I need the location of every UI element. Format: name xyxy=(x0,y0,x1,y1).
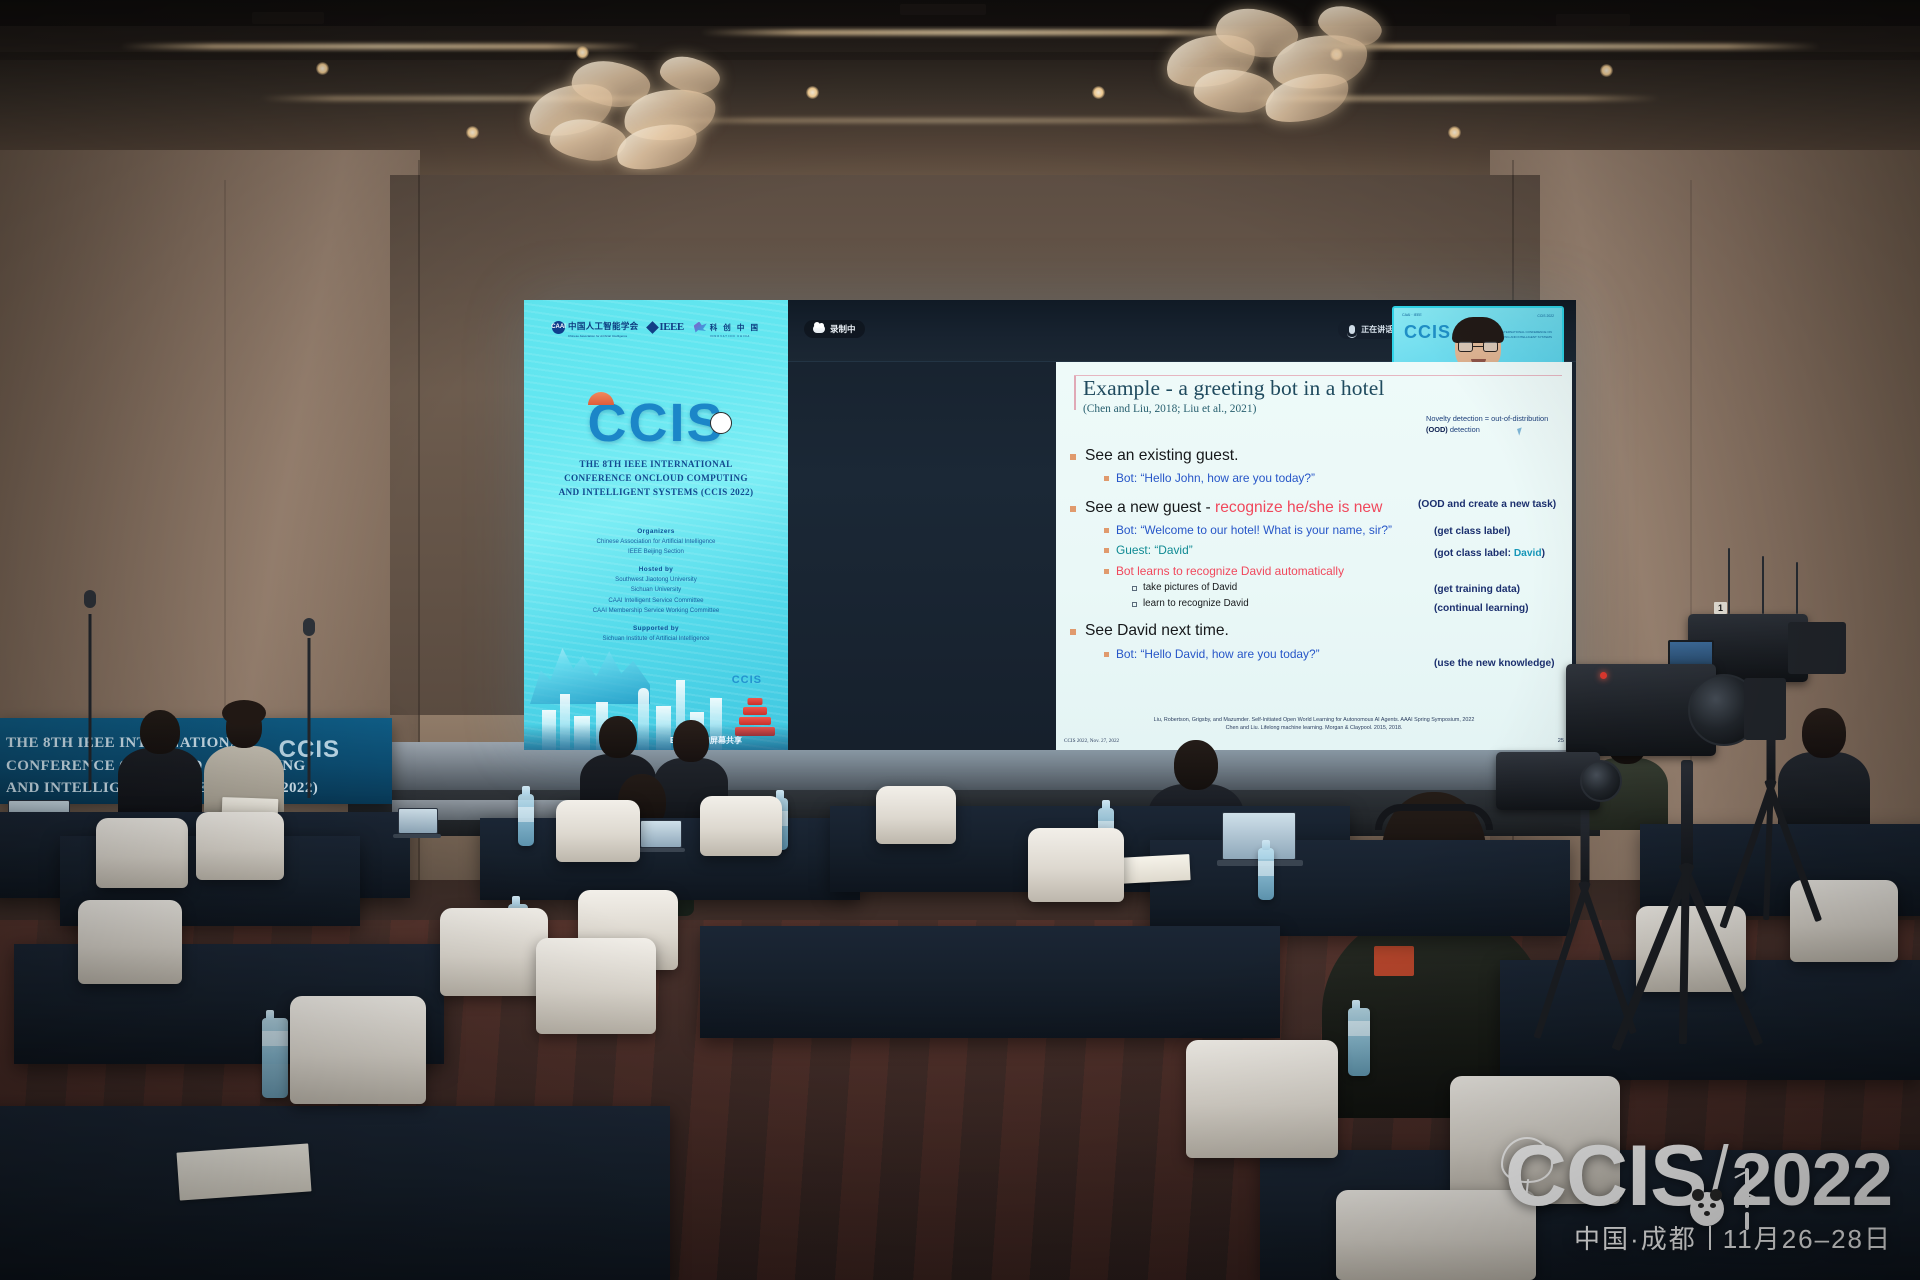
banner-title-line-3: AND INTELLIGENT SYSTEMS (CCIS 2022) xyxy=(536,486,776,500)
bullet-square-icon xyxy=(1104,652,1109,657)
chandelier-right xyxy=(1160,6,1400,132)
water-bottle xyxy=(1258,848,1274,900)
bullet-text: See a new guest - xyxy=(1085,499,1215,516)
conference-top-bar: 录制中 正在讲话: Bing Liu CAAI · IEEE CCIS 2022… xyxy=(788,300,1576,362)
caai-label-zh: 中国人工智能学会 xyxy=(568,321,638,331)
banner-title-line-2: CONFERENCE ONCLOUD COMPUTING xyxy=(536,472,776,486)
audience-chair xyxy=(876,786,956,844)
annotation-got-class-prefix: (got class label: xyxy=(1434,548,1514,559)
self-view-bg-text-right: CCIS 2022 xyxy=(1537,314,1554,318)
audience-chair xyxy=(536,938,656,1034)
paper-sheet xyxy=(176,1143,311,1200)
water-bottle xyxy=(262,1018,288,1098)
event-watermark: CCIS 2022 中国·成都 11月26–28日 xyxy=(1505,1141,1892,1256)
bullet-text: Bot: “Hello John, how are you today?” xyxy=(1116,471,1315,485)
bullet-square-icon xyxy=(1104,569,1109,574)
slide-side-note: Novelty detection = out-of-distribution … xyxy=(1426,414,1572,435)
slide-footer-left: CCIS 2022, Nov. 27, 2022 xyxy=(1064,738,1119,744)
bullet-square-icon xyxy=(1104,528,1109,533)
slide-page-number: 25 xyxy=(1558,738,1564,744)
audience-table xyxy=(700,926,1280,1038)
person-body xyxy=(118,748,202,818)
audience-table xyxy=(1150,840,1570,936)
bullet-text: Bot: “Hello David, how are you today?” xyxy=(1116,647,1320,661)
person-head xyxy=(673,720,709,762)
slide-note-line-1: Novelty detection = out-of-distribution xyxy=(1426,414,1572,425)
conference-room-photo: CAAI 中国人工智能学会 Chinese Association for Ar… xyxy=(0,0,1920,1280)
self-view-bg-text-left: CAAI · IEEE xyxy=(1402,313,1422,317)
ceiling-spotlight xyxy=(1600,64,1613,77)
banner-organizers: Organizers Chinese Association for Artif… xyxy=(534,526,778,644)
camera-lens-hood xyxy=(1788,622,1846,674)
caai-logo: CAAI 中国人工智能学会 Chinese Association for Ar… xyxy=(552,316,638,338)
slide-references: Liu, Robertson, Grigsby, and Mazumder. S… xyxy=(1056,716,1572,733)
watermark-subtitle: 中国·成都 11月26–28日 xyxy=(1505,1219,1892,1256)
banner-small-logo: CCIS xyxy=(732,674,762,686)
led-screen-wall: CAAI 中国人工智能学会 Chinese Association for Ar… xyxy=(524,300,1576,750)
person-head xyxy=(140,710,180,754)
bullet-square-icon xyxy=(1070,629,1076,635)
slide-title: Example - a greeting bot in a hotel xyxy=(1083,376,1384,401)
lanyard-badge xyxy=(1374,946,1414,976)
person-hair xyxy=(222,700,266,726)
annotation-use-new-knowledge: (use the new knowledge) xyxy=(1434,658,1555,669)
ieee-diamond-icon xyxy=(647,321,660,334)
paper-sheet xyxy=(1117,854,1190,884)
hosted-by-item: CAAI Intelligent Service Committee xyxy=(534,596,778,606)
recording-status-pill: 录制中 xyxy=(804,320,865,338)
bullet-text: See an existing guest. xyxy=(1085,447,1238,465)
recording-status-label: 录制中 xyxy=(830,323,856,335)
slide-note-line-2: detection xyxy=(1448,425,1480,434)
ceiling-spotlight xyxy=(1092,86,1105,99)
watermark-location: 中国·成都 xyxy=(1574,1219,1697,1256)
speaker-hair xyxy=(1452,317,1504,343)
banner-title-line-1: THE 8TH IEEE INTERNATIONAL xyxy=(536,458,776,472)
audience-chair xyxy=(1028,828,1124,902)
organizers-item: IEEE Beijing Section xyxy=(534,547,778,557)
bullet-hollow-square-icon xyxy=(1132,602,1137,607)
audience-chair xyxy=(290,996,426,1104)
bamboo-icon xyxy=(1740,1168,1756,1232)
bullet-level1: See an existing guest. xyxy=(1070,447,1568,465)
person-head xyxy=(599,716,637,758)
annotation-got-class-value: David xyxy=(1514,548,1542,559)
bullet-text: Guest: “David” xyxy=(1116,543,1193,557)
ginkgo-leaf-icon xyxy=(1501,1137,1553,1183)
hosted-by-item: Southwest Jiaotong University xyxy=(534,575,778,585)
supported-by-item: Sichuan Institute of Artificial Intellig… xyxy=(534,634,778,644)
bullet-text: See David next time. xyxy=(1085,622,1229,640)
bullet-text-row: See a new guest - recognize he/she is ne… xyxy=(1085,499,1382,517)
bullet-text: Bot: “Welcome to our hotel! What is your… xyxy=(1116,523,1392,537)
reference-line: Chen and Liu. Lifelong machine learning.… xyxy=(1056,724,1572,733)
audience-chair xyxy=(78,900,182,984)
chandelier-left xyxy=(520,54,740,174)
audience-chair xyxy=(96,818,188,888)
caai-mark-icon: CAAI xyxy=(552,321,565,334)
bullet-level1: See David next time. xyxy=(1070,622,1568,640)
microphone-icon xyxy=(1349,325,1355,334)
ceiling-spotlight xyxy=(316,62,329,75)
ceiling-spotlight xyxy=(806,86,819,99)
hosted-by-heading: Hosted by xyxy=(534,564,778,575)
bullet-square-icon xyxy=(1070,506,1076,512)
annotation-get-class-label: (get class label) xyxy=(1434,526,1510,537)
bullet-level2: Bot learns to recognize David automatica… xyxy=(1104,564,1568,578)
conference-banner-panel: CAAI 中国人工智能学会 Chinese Association for Ar… xyxy=(524,300,788,750)
microphone-stand xyxy=(78,590,102,790)
innovation-label-zh: 科 创 中 国 xyxy=(710,323,760,332)
annotation-get-training-data: (get training data) xyxy=(1434,584,1520,595)
innovation-label-en: INNOVATION CHINA xyxy=(710,335,760,338)
audience-chair xyxy=(196,812,284,880)
camera-tripod-side xyxy=(1510,800,1660,1060)
reference-line: Liu, Robertson, Grigsby, and Mazumder. S… xyxy=(1056,716,1572,725)
camera-matte-box xyxy=(1744,678,1786,740)
slide-title-accent-bar xyxy=(1074,376,1076,410)
slide-note-ood: (OOD) xyxy=(1426,425,1448,434)
annotation-got-class-suffix: ) xyxy=(1542,548,1545,559)
banner-panda-icon xyxy=(710,412,732,434)
ieee-logo: IEEE xyxy=(648,321,683,333)
hosted-by-item: Sichuan University xyxy=(534,585,778,595)
camera-antenna xyxy=(1762,556,1764,614)
bullet-text: learn to recognize David xyxy=(1143,598,1249,610)
camera-tally-number: 1 xyxy=(1714,602,1727,614)
bullet-text: take pictures of David xyxy=(1143,582,1237,594)
audience-chair xyxy=(556,800,640,862)
caai-label-en: Chinese Association for Artificial Intel… xyxy=(568,334,638,338)
bullet-text-highlight: recognize he/she is new xyxy=(1215,499,1382,516)
bullet-square-icon xyxy=(1070,454,1076,460)
bullet-level2: Bot: “Hello John, how are you today?” xyxy=(1104,471,1568,485)
cloud-record-icon xyxy=(813,325,825,333)
audience-chair xyxy=(1186,1040,1338,1158)
glasses-icon xyxy=(1458,341,1498,352)
watermark-separator xyxy=(1709,1226,1711,1250)
annotation-continual-learning: (continual learning) xyxy=(1434,603,1529,614)
water-bottle xyxy=(1348,1008,1370,1076)
person-head xyxy=(1174,740,1218,790)
innovation-bird-icon xyxy=(694,322,707,333)
video-conference-app: 录制中 正在讲话: Bing Liu CAAI · IEEE CCIS 2022… xyxy=(788,300,1576,750)
organizers-item: Chinese Association for Artificial Intel… xyxy=(534,537,778,547)
bullet-text: Bot learns to recognize David automatica… xyxy=(1116,564,1344,578)
water-bottle xyxy=(518,794,534,846)
ceiling-spotlight xyxy=(466,126,479,139)
banner-title: THE 8TH IEEE INTERNATIONAL CONFERENCE ON… xyxy=(536,458,776,499)
audience-person xyxy=(118,706,202,816)
microphone-icon xyxy=(84,590,96,608)
bullet-square-icon xyxy=(1104,548,1109,553)
audience-chair xyxy=(700,796,782,856)
annotation-ood-task: (OOD and create a new task) xyxy=(1418,499,1556,510)
bullet-hollow-square-icon xyxy=(1132,586,1137,591)
camera-antenna xyxy=(1796,562,1798,614)
headphones-icon xyxy=(1375,804,1493,830)
camera-lens xyxy=(1580,760,1622,802)
innovation-china-logo: 科 创 中 国 INNOVATION CHINA xyxy=(694,317,760,338)
hosted-by-item: CAAI Membership Service Working Committe… xyxy=(534,606,778,616)
banner-logo-row: CAAI 中国人工智能学会 Chinese Association for Ar… xyxy=(524,316,788,338)
audience-chair xyxy=(440,908,548,996)
panda-icon xyxy=(1690,1192,1724,1226)
microphone-icon xyxy=(303,618,315,636)
organizers-heading: Organizers xyxy=(534,526,778,537)
ieee-label: IEEE xyxy=(659,321,683,333)
audience-table-foreground xyxy=(0,1106,670,1280)
ceiling-spotlight xyxy=(1448,126,1461,139)
camera-record-light xyxy=(1600,672,1607,679)
presentation-slide: Example - a greeting bot in a hotel (Che… xyxy=(1056,362,1572,750)
supported-by-heading: Supported by xyxy=(534,623,778,634)
annotation-got-class-label: (got class label: David) xyxy=(1434,548,1545,559)
bullet-square-icon xyxy=(1104,476,1109,481)
banner-acronym: CCIS xyxy=(524,392,788,454)
camera-antenna xyxy=(1728,548,1730,614)
slide-subtitle: (Chen and Liu, 2018; Liu et al., 2021) xyxy=(1083,403,1256,415)
microphone-stand xyxy=(298,618,320,798)
